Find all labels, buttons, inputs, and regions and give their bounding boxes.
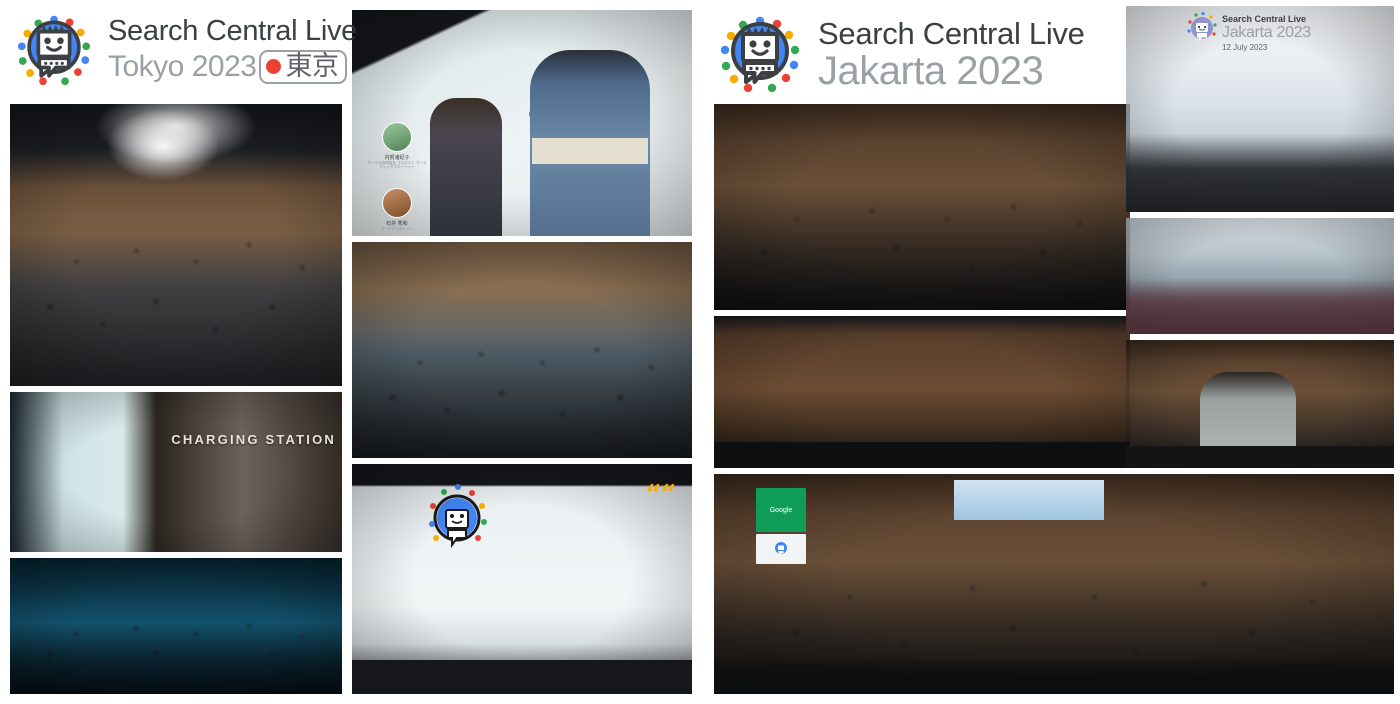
search-central-live-banner	[756, 534, 806, 564]
screen-speaker-chip-2: 石井 秀和 サーチアドボケイト	[366, 188, 428, 231]
search-central-mascot-logo-icon	[8, 4, 100, 96]
photo-jakarta-audience-waving[interactable]	[714, 104, 1130, 310]
photo-tokyo-heart-hands[interactable]	[352, 242, 692, 458]
logo-lockup-jakarta: Search Central Live Jakarta 2023	[710, 4, 1085, 104]
screen-mascot-icon	[424, 482, 490, 562]
section-jakarta: Search Central Live Jakarta 2023 12 July…	[702, 0, 1400, 704]
backdrop-event-caption: Search Central Live Jakarta 2023 12 July…	[1222, 14, 1311, 53]
logo-text-jakarta: Search Central Live Jakarta 2023	[818, 18, 1085, 91]
host-figure	[430, 98, 502, 236]
search-central-mascot-logo-icon	[710, 4, 810, 104]
google-banner: Google	[756, 488, 806, 532]
banner-mascot-icon	[773, 540, 789, 558]
stage-floor	[352, 660, 692, 694]
photo-tokyo-audience-group[interactable]	[10, 104, 342, 386]
section-tokyo: CHARGING STATION 内賀渚紀子	[0, 0, 697, 704]
photo-jakarta-group-photo-backdrop[interactable]: Search Central Live Jakarta 2023 12 July…	[1126, 6, 1394, 212]
quote-mark-icon: ““	[646, 480, 676, 510]
photo-jakarta-question-from-audience[interactable]	[1126, 340, 1394, 468]
photo-tokyo-networking-drinks[interactable]	[10, 558, 342, 694]
logo-title-line1: Search Central Live	[818, 18, 1085, 49]
photo-jakarta-full-group[interactable]: Google	[714, 474, 1394, 694]
logo-title-line2-row: Tokyo 2023 東京	[108, 50, 357, 84]
photo-jakarta-tote-bags[interactable]	[1126, 218, 1394, 334]
tokyo-kanji-label: 東京	[285, 53, 338, 80]
photo-tokyo-yukata-speaker[interactable]: 内賀渚紀子 グーグル合同会社 プロダクト マーケティングマネージャー 石井 秀和…	[352, 10, 692, 236]
obi-sash	[532, 138, 648, 164]
avatar	[382, 188, 412, 218]
foreground-heads	[1126, 446, 1394, 468]
logo-lockup-tokyo: Search Central Live Tokyo 2023 東京	[8, 4, 357, 96]
logo-title-line2: Tokyo 2023	[108, 52, 256, 82]
logo-text-tokyo: Search Central Live Tokyo 2023 東京	[108, 17, 357, 84]
photo-jakarta-panel-discussion[interactable]	[714, 316, 1130, 468]
avatar	[382, 122, 412, 152]
backdrop-mascot-icon	[1186, 12, 1218, 50]
logo-title-line1: Search Central Live	[108, 17, 357, 46]
group-foreground	[1126, 134, 1394, 212]
photo-collage: CHARGING STATION 内賀渚紀子	[0, 0, 1400, 704]
tokyo-japanese-badge: 東京	[259, 50, 347, 84]
front-row-seats	[714, 660, 1394, 694]
photo-tokyo-award-handover[interactable]: CHARGING STATION	[10, 392, 342, 552]
stage-light-flare	[108, 110, 218, 180]
japan-flag-dot-icon	[266, 59, 281, 74]
foreground-heads	[714, 442, 1130, 468]
photo-tokyo-panel-stage[interactable]: ““	[352, 464, 692, 694]
logo-title-line2: Jakarta 2023	[818, 51, 1085, 91]
screen-speaker-chip-1: 内賀渚紀子 グーグル合同会社 プロダクト マーケティングマネージャー	[366, 122, 428, 170]
attendees-foreground	[1126, 278, 1394, 334]
projection-screen	[954, 480, 1104, 520]
charging-station-sign: CHARGING STATION	[171, 432, 336, 447]
